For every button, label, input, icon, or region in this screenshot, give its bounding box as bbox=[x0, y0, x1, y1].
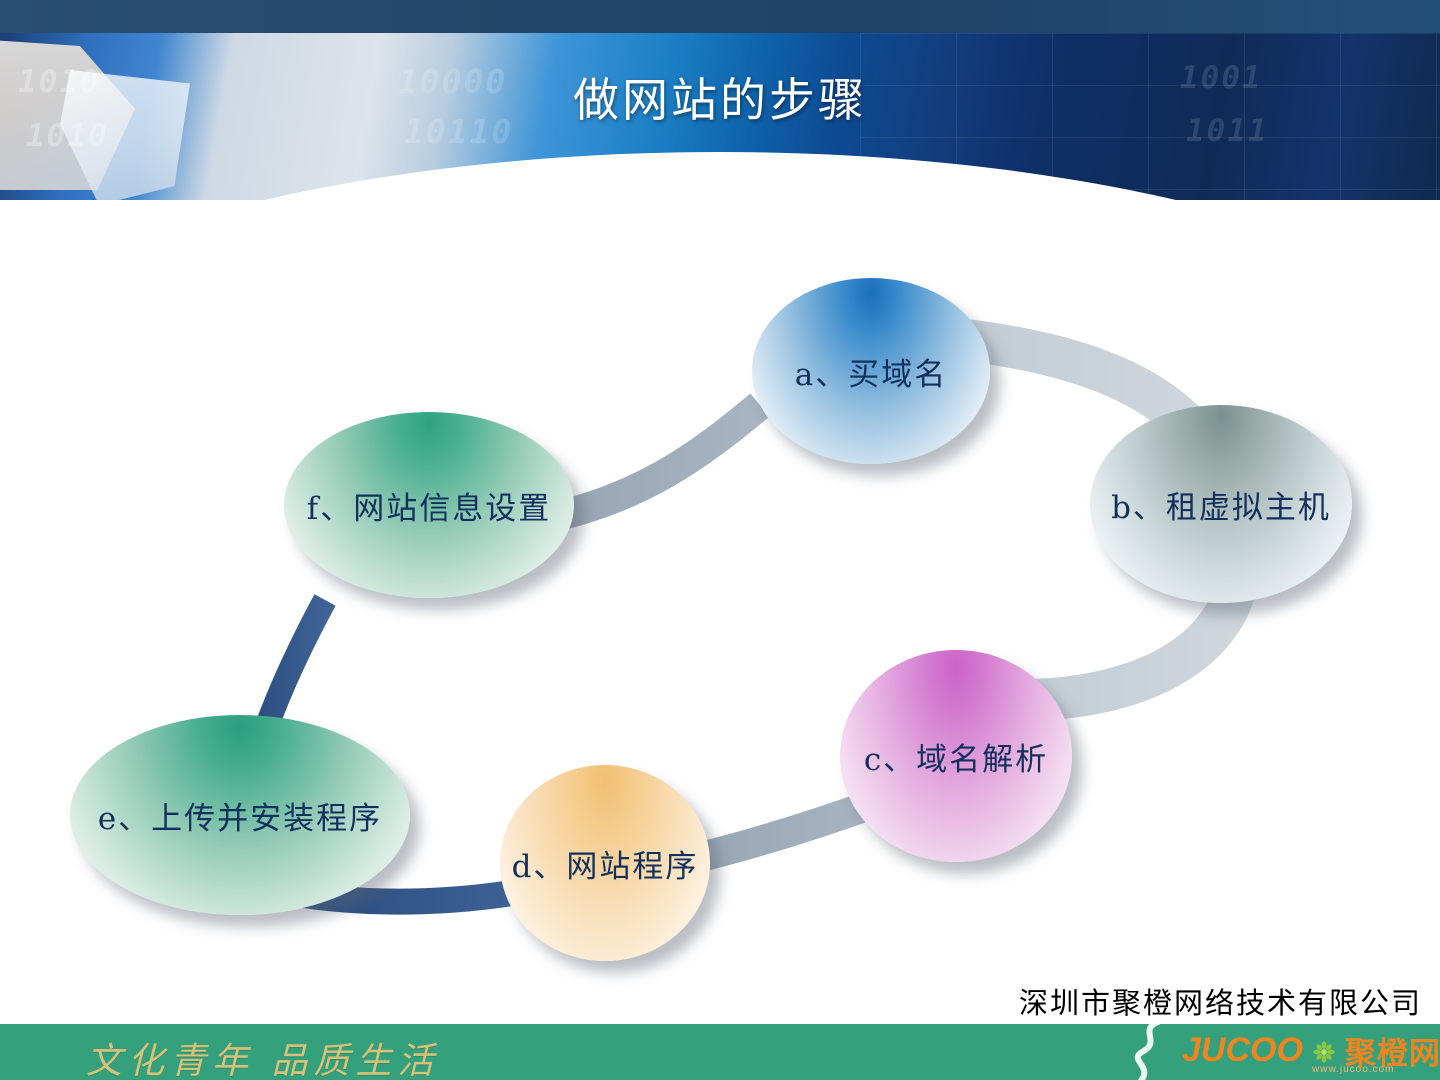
diagram-node-e[interactable]: e、上传并安装程序 bbox=[70, 715, 410, 915]
footer-tagline: 文化青年 品质生活 bbox=[86, 1032, 439, 1080]
diagram-node-f-label: f、网站信息设置 bbox=[307, 483, 551, 528]
cycle-diagram: a、买域名 b、租虚拟主机 c、域名解析 d、网站程序 e、上传并安装程序 f、… bbox=[0, 200, 1440, 1000]
slide-root: 1010 1010 10000 10110 1001 1011 做网站的步骤 bbox=[0, 0, 1440, 1080]
diagram-node-f[interactable]: f、网站信息设置 bbox=[284, 412, 574, 598]
connector-b-to-c bbox=[1020, 590, 1235, 700]
swirl-icon bbox=[1128, 1024, 1168, 1080]
page-title: 做网站的步骤 bbox=[0, 64, 1440, 130]
header-top-band bbox=[0, 0, 1440, 33]
diagram-node-c-label: c、域名解析 bbox=[864, 734, 1048, 779]
diagram-node-d-label: d、网站程序 bbox=[512, 841, 699, 886]
diagram-node-a-label: a、买域名 bbox=[795, 349, 947, 394]
company-name: 深圳市聚橙网络技术有限公司 bbox=[1019, 980, 1422, 1022]
diagram-node-b-label: b、租虚拟主机 bbox=[1111, 482, 1331, 527]
diagram-node-c[interactable]: c、域名解析 bbox=[840, 650, 1072, 862]
jucoo-logo-text: JUCOO bbox=[1182, 1031, 1303, 1070]
slide-header: 1010 1010 10000 10110 1001 1011 做网站的步骤 bbox=[0, 0, 1440, 200]
footer-bar: 文化青年 品质生活 JUCOO 聚橙网 ww bbox=[0, 1024, 1440, 1080]
jucoo-logo-url: www.jucoo.com bbox=[1312, 1064, 1394, 1075]
diagram-node-d[interactable]: d、网站程序 bbox=[500, 765, 710, 961]
diagram-node-e-label: e、上传并安装程序 bbox=[98, 793, 382, 838]
diagram-node-a[interactable]: a、买域名 bbox=[752, 278, 990, 464]
flower-icon bbox=[1313, 1041, 1335, 1063]
jucoo-logo[interactable]: JUCOO 聚橙网 bbox=[1182, 1028, 1440, 1073]
diagram-node-b[interactable]: b、租虚拟主机 bbox=[1090, 405, 1352, 603]
